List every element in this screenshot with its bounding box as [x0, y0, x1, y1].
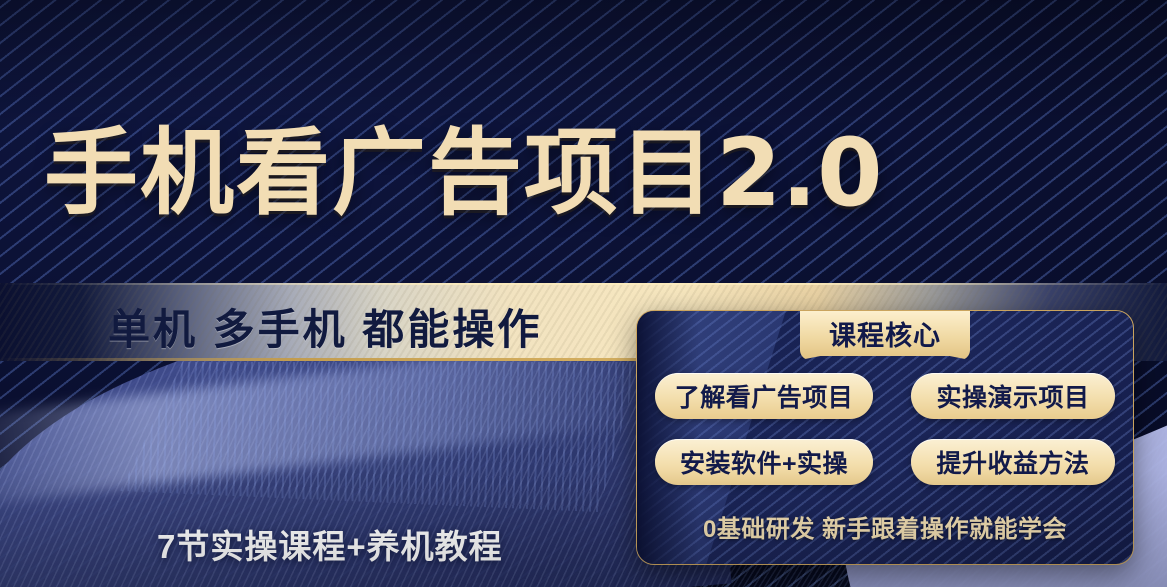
course-pill-label: 了解看广告项目 — [675, 378, 854, 414]
card-header-label: 课程核心 — [829, 314, 941, 353]
card-header-banner: 课程核心 — [800, 310, 970, 360]
course-pill-label: 实操演示项目 — [936, 378, 1089, 414]
course-pill-live-demo[interactable]: 实操演示项目 — [911, 373, 1115, 419]
course-pill-understand-ads[interactable]: 了解看广告项目 — [655, 373, 873, 419]
card-pill-row-1: 了解看广告项目 实操演示项目 — [655, 373, 1115, 419]
title-main-text: 手机看广告项目 — [44, 120, 716, 225]
vertical-stripes-panel — [120, 362, 640, 512]
course-pill-install-software[interactable]: 安装软件+实操 — [655, 439, 873, 485]
course-pill-label: 提升收益方法 — [936, 444, 1089, 480]
bottom-note: 7节实操课程+养机教程 — [157, 520, 503, 568]
course-core-card: 课程核心 了解看广告项目 实操演示项目 安装软件+实操 提升收益方法 0基础研发… — [636, 310, 1134, 565]
gold-band-top-edge — [0, 283, 1167, 285]
promo-poster: 手机看广告项目2.0 单机 多手机 都能操作 7节实操课程+养机教程 课程核心 … — [0, 0, 1167, 587]
course-pill-boost-income[interactable]: 提升收益方法 — [911, 439, 1115, 485]
subtitle: 单机 多手机 都能操作 — [108, 296, 542, 357]
page-title: 手机看广告项目2.0 — [44, 124, 883, 223]
card-pill-row-2: 安装软件+实操 提升收益方法 — [655, 439, 1115, 485]
course-pill-label: 安装软件+实操 — [680, 444, 848, 480]
title-version-text: 2.0 — [716, 119, 883, 228]
card-footer-text: 0基础研发 新手跟着操作就能学会 — [637, 509, 1133, 544]
